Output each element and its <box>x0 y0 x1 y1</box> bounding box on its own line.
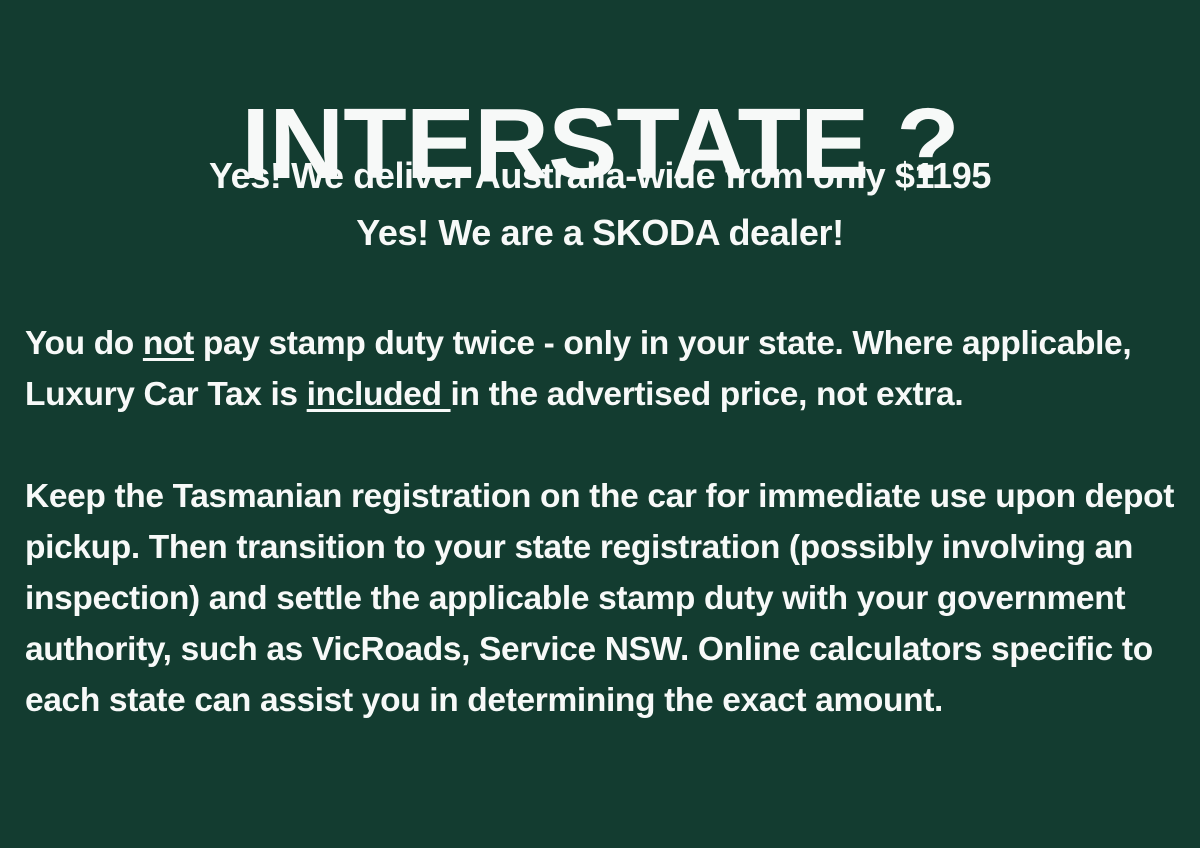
paragraph-1-segment-3: in the advertised price, not extra. <box>451 376 964 413</box>
paragraph-1-segment-1: You do <box>25 325 143 362</box>
subheading-dealer: Yes! We are a SKODA dealer! <box>0 215 1200 251</box>
paragraph-registration: Keep the Tasmanian registration on the c… <box>25 471 1180 726</box>
promotional-poster: INTERSTATE ? Yes! We deliver Australia-w… <box>0 0 1200 848</box>
emphasis-included: included <box>307 376 451 413</box>
emphasis-not: not <box>143 325 194 362</box>
subheading-delivery: Yes! We deliver Australia-wide from only… <box>0 158 1200 194</box>
paragraph-stamp-duty: You do not pay stamp duty twice - only i… <box>25 318 1180 420</box>
body-copy: You do not pay stamp duty twice - only i… <box>25 318 1180 726</box>
